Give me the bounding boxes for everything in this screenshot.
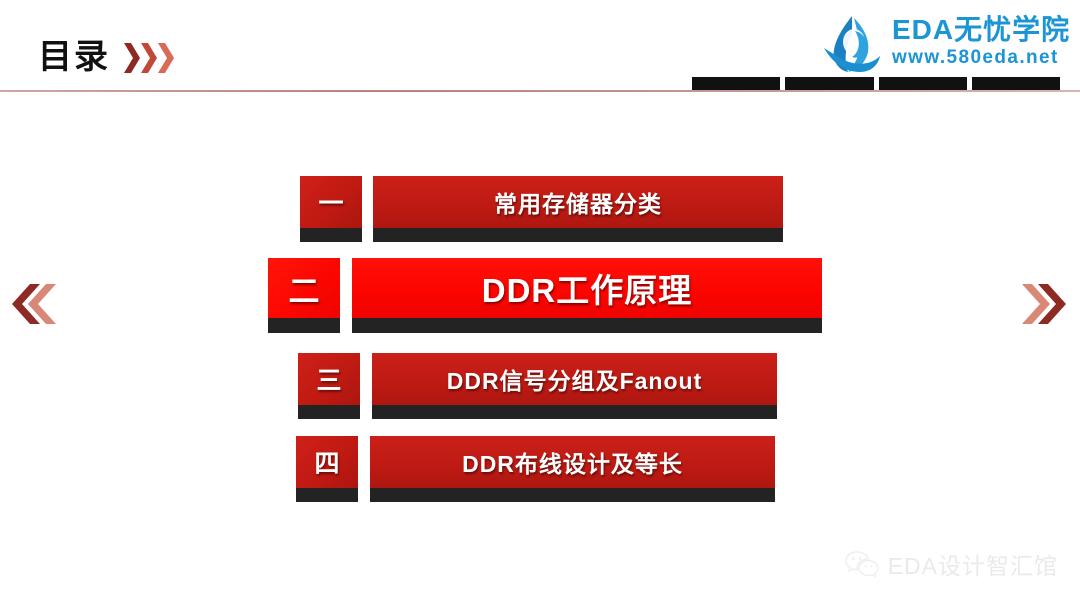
agenda-list: 一 常用存储器分类 二 DDR工作原理 三 DDR信号分组及Fanout	[0, 168, 1080, 508]
page-title: 目录	[38, 37, 110, 77]
agenda-item-number-badge[interactable]: 四	[296, 436, 358, 502]
badge-shadow	[296, 488, 358, 502]
agenda-item-number: 四	[296, 436, 358, 488]
agenda-item-bar[interactable]: DDR布线设计及等长	[370, 436, 775, 502]
agenda-item-bar[interactable]: 常用存储器分类	[373, 176, 783, 242]
agenda-item-number: 三	[298, 353, 360, 405]
agenda-item-active[interactable]: 二 DDR工作原理	[268, 258, 822, 333]
agenda-item-number-badge[interactable]: 二	[268, 258, 340, 333]
wechat-watermark: EDA设计智汇馆	[845, 547, 1058, 581]
slide-header: 目录 EDA无忧学院 www.580eda.net	[0, 0, 1080, 92]
header-decor-bar	[692, 77, 780, 91]
agenda-item-label: DDR布线设计及等长	[370, 436, 775, 488]
agenda-item-number: 一	[300, 176, 362, 228]
header-divider	[0, 90, 1080, 92]
bar-shadow	[370, 488, 775, 502]
bar-shadow	[372, 405, 777, 419]
agenda-item-number-badge[interactable]: 三	[298, 353, 360, 419]
badge-shadow	[298, 405, 360, 419]
agenda-item-label: 常用存储器分类	[373, 176, 783, 228]
brand-logo: EDA无忧学院 www.580eda.net	[810, 8, 1062, 82]
badge-shadow	[268, 318, 340, 333]
agenda-item-bar[interactable]: DDR工作原理	[352, 258, 822, 333]
watermark-text: EDA设计智汇馆	[888, 547, 1058, 581]
logo-name: EDA无忧学院	[892, 14, 1070, 46]
logo-url: www.580eda.net	[892, 46, 1070, 70]
bar-shadow	[352, 318, 822, 333]
agenda-item[interactable]: 一 常用存储器分类	[300, 176, 783, 242]
triple-chevron-right-icon	[124, 43, 174, 73]
agenda-item-bar[interactable]: DDR信号分组及Fanout	[372, 353, 777, 419]
agenda-item-number: 二	[268, 258, 340, 318]
eda-leaf-logo-icon	[814, 10, 886, 82]
agenda-item[interactable]: 四 DDR布线设计及等长	[296, 436, 775, 502]
agenda-item-number-badge[interactable]: 一	[300, 176, 362, 242]
bar-shadow	[373, 228, 783, 242]
agenda-item[interactable]: 三 DDR信号分组及Fanout	[298, 353, 777, 419]
badge-shadow	[300, 228, 362, 242]
agenda-item-label: DDR信号分组及Fanout	[372, 353, 777, 405]
wechat-icon	[845, 550, 879, 578]
agenda-item-label: DDR工作原理	[352, 258, 822, 318]
